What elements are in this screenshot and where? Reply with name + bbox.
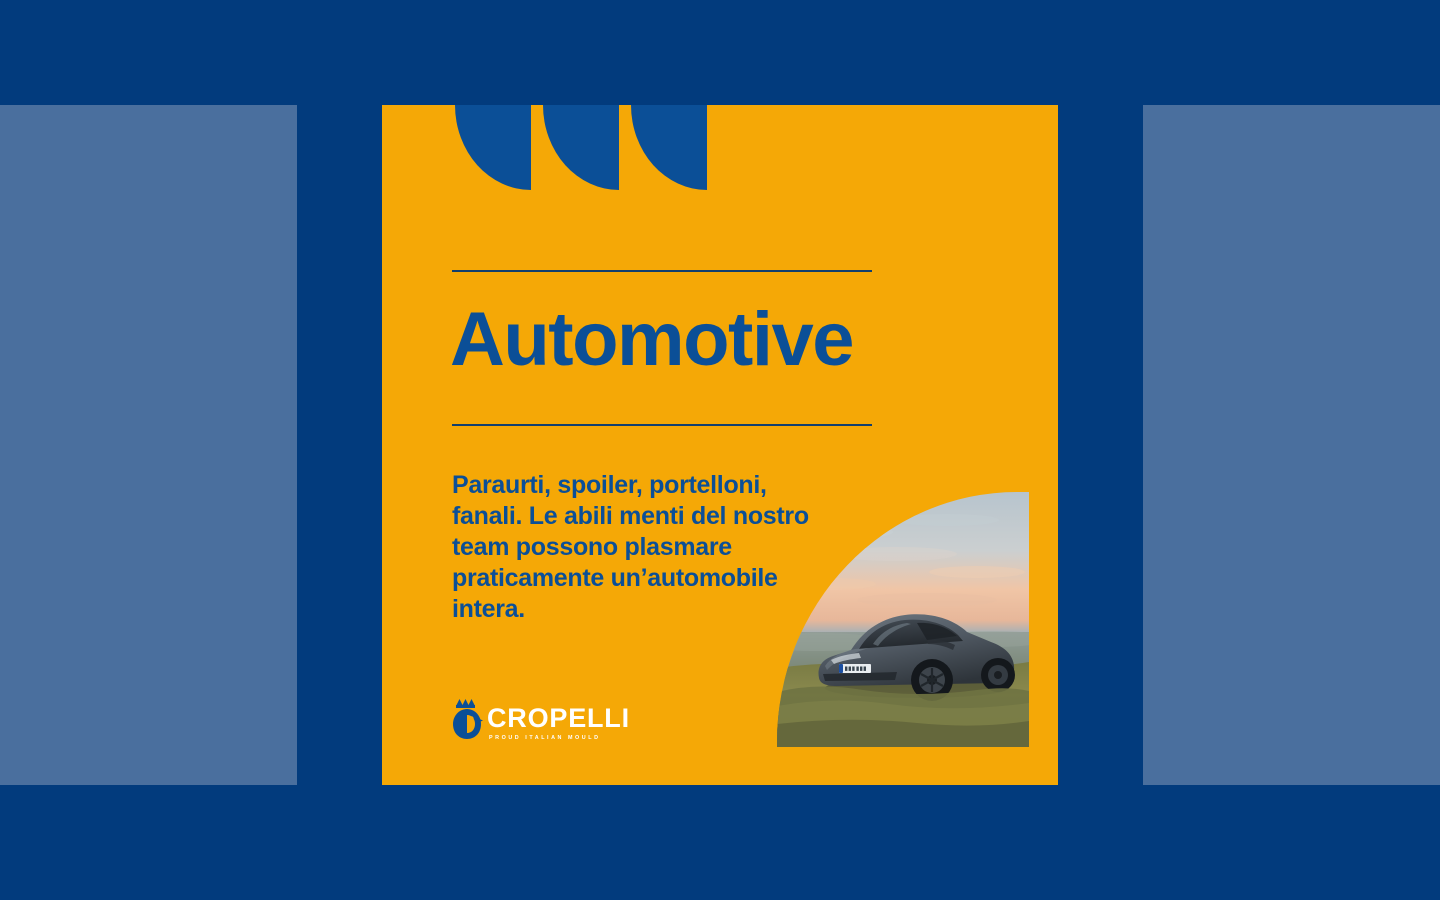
petal-decoration-group [455, 105, 707, 190]
cropelli-rooster-mark-icon [450, 694, 484, 742]
petal-shape-3 [631, 105, 707, 190]
automotive-post-card: Automotive Paraurti, spoiler, portelloni… [382, 105, 1058, 785]
logo-text-block: CROPELLI PROUD ITALIAN MOULD [487, 694, 630, 741]
background-panel-left [0, 105, 297, 785]
page-title: Automotive [450, 302, 853, 378]
car-photo [777, 492, 1029, 747]
logo-tagline: PROUD ITALIAN MOULD [489, 736, 630, 741]
brand-logo: CROPELLI PROUD ITALIAN MOULD [450, 694, 630, 742]
background-panel-right [1143, 105, 1440, 785]
car-photo-illustration [777, 492, 1029, 747]
body-paragraph: Paraurti, spoiler, portelloni, fanali. L… [452, 470, 812, 625]
divider-below-headline [452, 424, 872, 426]
logo-wordmark: CROPELLI [487, 705, 630, 732]
divider-above-headline [452, 270, 872, 272]
petal-shape-2 [543, 105, 619, 190]
petal-shape-1 [455, 105, 531, 190]
